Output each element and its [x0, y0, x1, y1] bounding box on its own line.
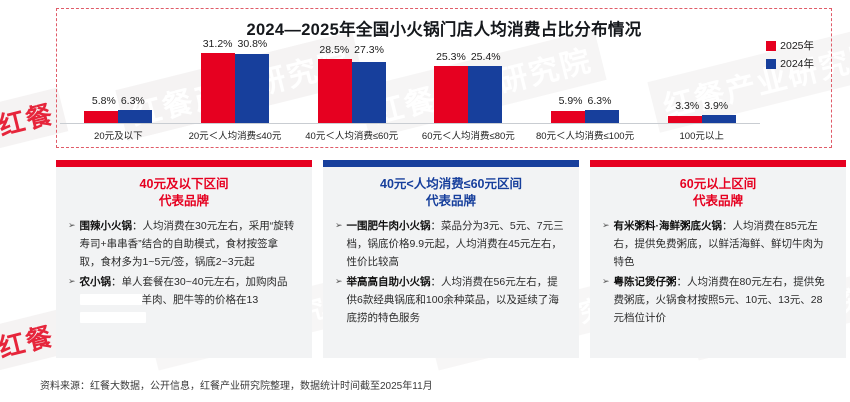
brand-card: 40元及以下区间代表品牌➢围辣小火锅：人均消费在30元左右，采用“旋转寿司+串串… — [56, 160, 312, 358]
chart-axis-line — [60, 123, 760, 124]
legend-swatch-2024 — [766, 59, 776, 69]
bullet-text: 举高高自助小火锅：人均消费在56元左右，提供6款经典锅底和100余种菜品，以及延… — [347, 273, 565, 327]
card-title: 40元及以下区间代表品牌 — [56, 167, 312, 217]
card-accent-bar — [56, 160, 312, 167]
bar-value-labels: 28.5%27.3% — [293, 44, 410, 56]
brand-name: 农小锅 — [80, 276, 112, 288]
bar-value-label: 6.3% — [588, 95, 612, 107]
chart-plot-area: 5.8%6.3%31.2%30.8%28.5%27.3%25.3%25.4%5.… — [60, 44, 760, 124]
redacted-block — [80, 294, 142, 305]
bar-2025年[interactable] — [201, 53, 235, 124]
bar-group: 28.5%27.3% — [293, 44, 410, 124]
legend-label-2024: 2024年 — [780, 56, 814, 71]
bar-value-label: 3.3% — [675, 100, 699, 112]
bar-value-labels: 5.8%6.3% — [60, 95, 177, 107]
bar-2025年[interactable] — [551, 111, 585, 124]
source-note: 资料来源：红餐大数据，公开信息，红餐产业研究院整理，数据统计时间截至2025年1… — [40, 377, 433, 392]
card-bullet: ➢举高高自助小火锅：人均消费在56元左右，提供6款经典锅底和100余种菜品，以及… — [335, 273, 565, 327]
bar-group: 5.8%6.3% — [60, 44, 177, 124]
legend-swatch-2025 — [766, 41, 776, 51]
card-bullet: ➢一围肥牛肉小火锅：菜品分为3元、5元、7元三档，锅底价格9.9元起，人均消费在… — [335, 217, 565, 271]
brand-name: 举高高自助小火锅 — [347, 276, 431, 288]
bullet-arrow-icon: ➢ — [602, 273, 610, 327]
bar-group: 5.9%6.3% — [527, 44, 644, 124]
bar-2024年[interactable] — [468, 66, 502, 124]
brand-name: 围辣小火锅 — [80, 220, 133, 232]
legend-label-2025: 2025年 — [780, 38, 814, 53]
card-title-line2: 代表品牌 — [329, 193, 573, 210]
legend-item-2024: 2024年 — [766, 56, 814, 71]
bar-value-label: 28.5% — [319, 44, 349, 56]
brand-name: 有米粥料·海鲜粥底火锅 — [614, 220, 723, 232]
x-axis-label: 80元＜人均消费≤100元 — [527, 128, 644, 142]
bar-2024年[interactable] — [352, 62, 386, 124]
card-body: ➢有米粥料·海鲜粥底火锅：人均消费在85元左右，提供免费粥底，以鲜活海鲜、鲜切牛… — [590, 217, 846, 327]
redacted-block — [80, 312, 146, 323]
bar-pair — [84, 110, 152, 124]
brand-card: 40元<人均消费≤60元区间代表品牌➢一围肥牛肉小火锅：菜品分为3元、5元、7元… — [323, 160, 579, 358]
x-axis-label: 20元＜人均消费≤40元 — [177, 128, 294, 142]
card-bullet: ➢围辣小火锅：人均消费在30元左右，采用“旋转寿司+串串香”结合的自助模式，食材… — [68, 217, 298, 271]
bar-group: 31.2%30.8% — [177, 44, 294, 124]
bar-group: 25.3%25.4% — [410, 44, 527, 124]
card-body: ➢围辣小火锅：人均消费在30元左右，采用“旋转寿司+串串香”结合的自助模式，食材… — [56, 217, 312, 327]
card-title-line2: 代表品牌 — [596, 193, 840, 210]
bullet-text: 粤陈记煲仔粥：人均消费在80元左右，提供免费粥底，火锅食材按照5元、10元、13… — [614, 273, 832, 327]
bar-2025年[interactable] — [84, 111, 118, 124]
brand-cards: 40元及以下区间代表品牌➢围辣小火锅：人均消费在30元左右，采用“旋转寿司+串串… — [56, 160, 846, 358]
bullet-arrow-icon: ➢ — [68, 217, 76, 271]
card-bullet: ➢有米粥料·海鲜粥底火锅：人均消费在85元左右，提供免费粥底，以鲜活海鲜、鲜切牛… — [602, 217, 832, 271]
brand-name: 粤陈记煲仔粥 — [614, 276, 677, 288]
bar-2025年[interactable] — [434, 66, 468, 124]
bar-value-label: 5.8% — [92, 95, 116, 107]
chart-x-axis-labels: 20元及以下20元＜人均消费≤40元40元＜人均消费≤60元60元＜人均消费≤8… — [60, 128, 760, 142]
card-title-line1: 40元<人均消费≤60元区间 — [329, 176, 573, 193]
brand-card: 60元以上区间代表品牌➢有米粥料·海鲜粥底火锅：人均消费在85元左右，提供免费粥… — [590, 160, 846, 358]
bar-group: 3.3%3.9% — [643, 44, 760, 124]
bar-value-label: 25.3% — [436, 51, 466, 63]
legend-item-2025: 2025年 — [766, 38, 814, 53]
card-title: 40元<人均消费≤60元区间代表品牌 — [323, 167, 579, 217]
bar-2024年[interactable] — [118, 110, 152, 124]
card-title-line1: 60元以上区间 — [596, 176, 840, 193]
bar-groups: 5.8%6.3%31.2%30.8%28.5%27.3%25.3%25.4%5.… — [60, 44, 760, 124]
card-accent-bar — [590, 160, 846, 167]
x-axis-label: 40元＜人均消费≤60元 — [293, 128, 410, 142]
bar-2024年[interactable] — [585, 110, 619, 124]
card-title: 60元以上区间代表品牌 — [590, 167, 846, 217]
card-title-line1: 40元及以下区间 — [62, 176, 306, 193]
bullet-arrow-icon: ➢ — [335, 273, 343, 327]
chart-legend: 2025年 2024年 — [766, 38, 814, 74]
bar-value-label: 27.3% — [354, 44, 384, 56]
bar-value-labels: 5.9%6.3% — [527, 95, 644, 107]
brand-description: ：单人套餐在30~40元左右，加购肉品 — [111, 276, 288, 288]
bullet-text: 围辣小火锅：人均消费在30元左右，采用“旋转寿司+串串香”结合的自助模式，食材按… — [80, 217, 298, 271]
bullet-text: 农小锅：单人套餐在30~40元左右，加购肉品羊肉、肥牛等的价格在13 — [80, 273, 298, 327]
x-axis-label: 100元以上 — [643, 128, 760, 142]
bar-pair — [551, 110, 619, 124]
bar-value-label: 5.9% — [559, 95, 583, 107]
bullet-text: 有米粥料·海鲜粥底火锅：人均消费在85元左右，提供免费粥底，以鲜活海鲜、鲜切牛肉… — [614, 217, 832, 271]
bullet-arrow-icon: ➢ — [68, 273, 76, 327]
x-axis-label: 20元及以下 — [60, 128, 177, 142]
bar-value-label: 25.4% — [471, 51, 501, 63]
bullet-arrow-icon: ➢ — [602, 217, 610, 271]
bar-pair — [201, 53, 269, 124]
card-body: ➢一围肥牛肉小火锅：菜品分为3元、5元、7元三档，锅底价格9.9元起，人均消费在… — [323, 217, 579, 327]
bar-2025年[interactable] — [318, 59, 352, 124]
brand-description-cont: 羊肉、肥牛等的价格在13 — [142, 294, 259, 306]
card-accent-bar — [323, 160, 579, 167]
bar-value-labels: 3.3%3.9% — [643, 100, 760, 112]
card-title-line2: 代表品牌 — [62, 193, 306, 210]
bar-value-label: 3.9% — [704, 100, 728, 112]
bullet-arrow-icon: ➢ — [335, 217, 343, 271]
bar-pair — [318, 59, 386, 124]
x-axis-label: 60元＜人均消费≤80元 — [410, 128, 527, 142]
bar-value-labels: 25.3%25.4% — [410, 51, 527, 63]
card-bullet: ➢粤陈记煲仔粥：人均消费在80元左右，提供免费粥底，火锅食材按照5元、10元、1… — [602, 273, 832, 327]
card-bullet: ➢农小锅：单人套餐在30~40元左右，加购肉品羊肉、肥牛等的价格在13 — [68, 273, 298, 327]
bar-pair — [434, 66, 502, 124]
bullet-text: 一围肥牛肉小火锅：菜品分为3元、5元、7元三档，锅底价格9.9元起，人均消费在4… — [347, 217, 565, 271]
bar-2024年[interactable] — [235, 54, 269, 124]
bar-value-label: 6.3% — [121, 95, 145, 107]
brand-name: 一围肥牛肉小火锅 — [347, 220, 431, 232]
chart-title: 2024—2025年全国小火锅门店人均消费占比分布情况 — [56, 16, 832, 40]
